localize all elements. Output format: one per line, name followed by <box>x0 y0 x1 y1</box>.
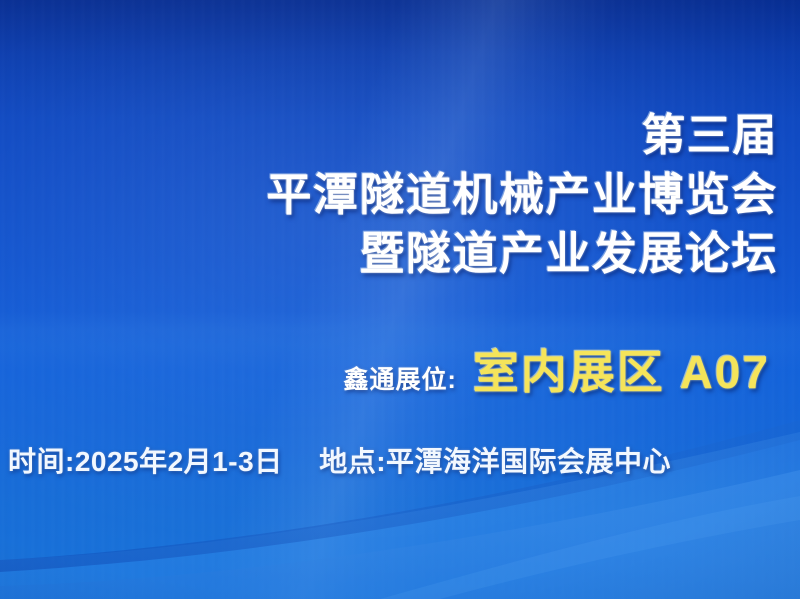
booth-number: 室内展区 A07 <box>473 336 770 402</box>
background-diagonal-streak <box>0 0 800 599</box>
background-horizontal-band <box>0 0 800 599</box>
event-venue: 地点:平潭海洋国际会展中心 <box>319 446 671 477</box>
exhibition-poster: 第三届 平潭隧道机械产业博览会 暨隧道产业发展论坛 鑫通展位: 室内展区 A07… <box>0 0 800 599</box>
title-line-1: 第三届 <box>0 106 778 165</box>
title-line-2: 平潭隧道机械产业博览会 <box>0 165 778 224</box>
booth-row: 鑫通展位: 室内展区 A07 <box>0 336 770 402</box>
background-top-shade <box>0 0 800 599</box>
background-vertical-stripes <box>0 0 800 599</box>
background-vignette <box>0 0 800 599</box>
booth-label: 鑫通展位: <box>344 360 457 396</box>
background-swoosh-curves <box>0 0 800 599</box>
poster-title: 第三届 平潭隧道机械产业博览会 暨隧道产业发展论坛 <box>0 106 778 283</box>
info-row: 时间:2025年2月1-3日 地点:平潭海洋国际会展中心 <box>8 440 790 480</box>
title-line-3: 暨隧道产业发展论坛 <box>0 224 778 283</box>
event-date: 时间:2025年2月1-3日 <box>8 446 283 477</box>
